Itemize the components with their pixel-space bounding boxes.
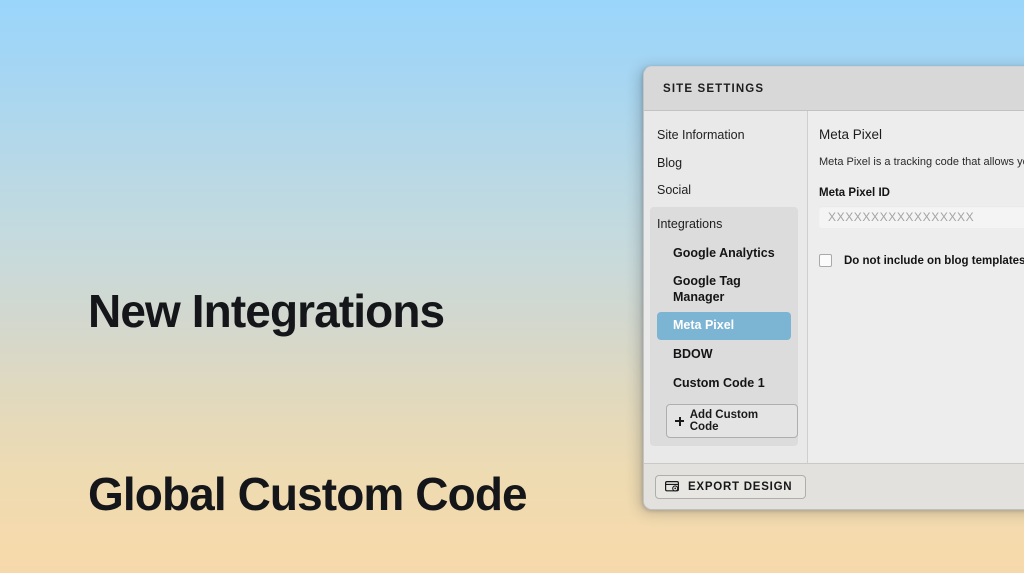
sidebar-item-blog[interactable]: Blog — [644, 150, 807, 178]
add-custom-code-row: Add Custom Code — [650, 397, 798, 438]
window-body: Site Information Blog Social Integration… — [644, 111, 1024, 463]
site-settings-window: SITE SETTINGS Site Information Blog Soci… — [643, 66, 1024, 510]
meta-pixel-id-input[interactable]: XXXXXXXXXXXXXXXXX — [819, 206, 1024, 228]
blog-templates-checkbox[interactable] — [819, 254, 832, 267]
page-headline: New Integrations Global Custom Code Zoom… — [88, 160, 527, 573]
meta-pixel-id-label: Meta Pixel ID — [819, 187, 1024, 199]
settings-content-pane: Meta Pixel Meta Pixel is a tracking code… — [808, 111, 1024, 463]
content-title: Meta Pixel — [819, 127, 1024, 142]
export-design-button[interactable]: EXPORT DESIGN — [655, 475, 806, 499]
export-design-icon — [665, 481, 679, 492]
sidebar-item-google-analytics[interactable]: Google Analytics — [657, 240, 791, 268]
export-design-label: EXPORT DESIGN — [688, 481, 792, 493]
headline-line-1: New Integrations — [88, 281, 527, 342]
sidebar-item-google-tag-manager[interactable]: Google Tag Manager — [657, 268, 791, 311]
window-footer: EXPORT DESIGN — [644, 463, 1024, 509]
content-description: Meta Pixel is a tracking code that allow… — [819, 156, 1024, 168]
settings-sidebar: Site Information Blog Social Integration… — [644, 111, 808, 463]
sidebar-item-integrations[interactable]: Integrations — [650, 211, 798, 239]
headline-line-2: Global Custom Code — [88, 464, 527, 525]
sidebar-group-integrations: Integrations Google Analytics Google Tag… — [650, 207, 798, 446]
sidebar-item-bdow[interactable]: BDOW — [657, 341, 791, 369]
window-title-bar: SITE SETTINGS — [644, 67, 1024, 111]
plus-icon — [675, 417, 684, 426]
window-title: SITE SETTINGS — [663, 83, 764, 95]
sidebar-item-site-information[interactable]: Site Information — [644, 122, 807, 150]
blog-templates-checkbox-label: Do not include on blog templates — [844, 255, 1024, 267]
blog-templates-checkbox-row[interactable]: Do not include on blog templates — [819, 254, 1024, 267]
add-custom-code-button[interactable]: Add Custom Code — [666, 404, 798, 438]
sidebar-item-social[interactable]: Social — [644, 177, 807, 205]
sidebar-item-custom-code-1[interactable]: Custom Code 1 — [657, 370, 791, 398]
sidebar-item-meta-pixel[interactable]: Meta Pixel — [657, 312, 791, 340]
add-custom-code-label: Add Custom Code — [690, 409, 787, 433]
